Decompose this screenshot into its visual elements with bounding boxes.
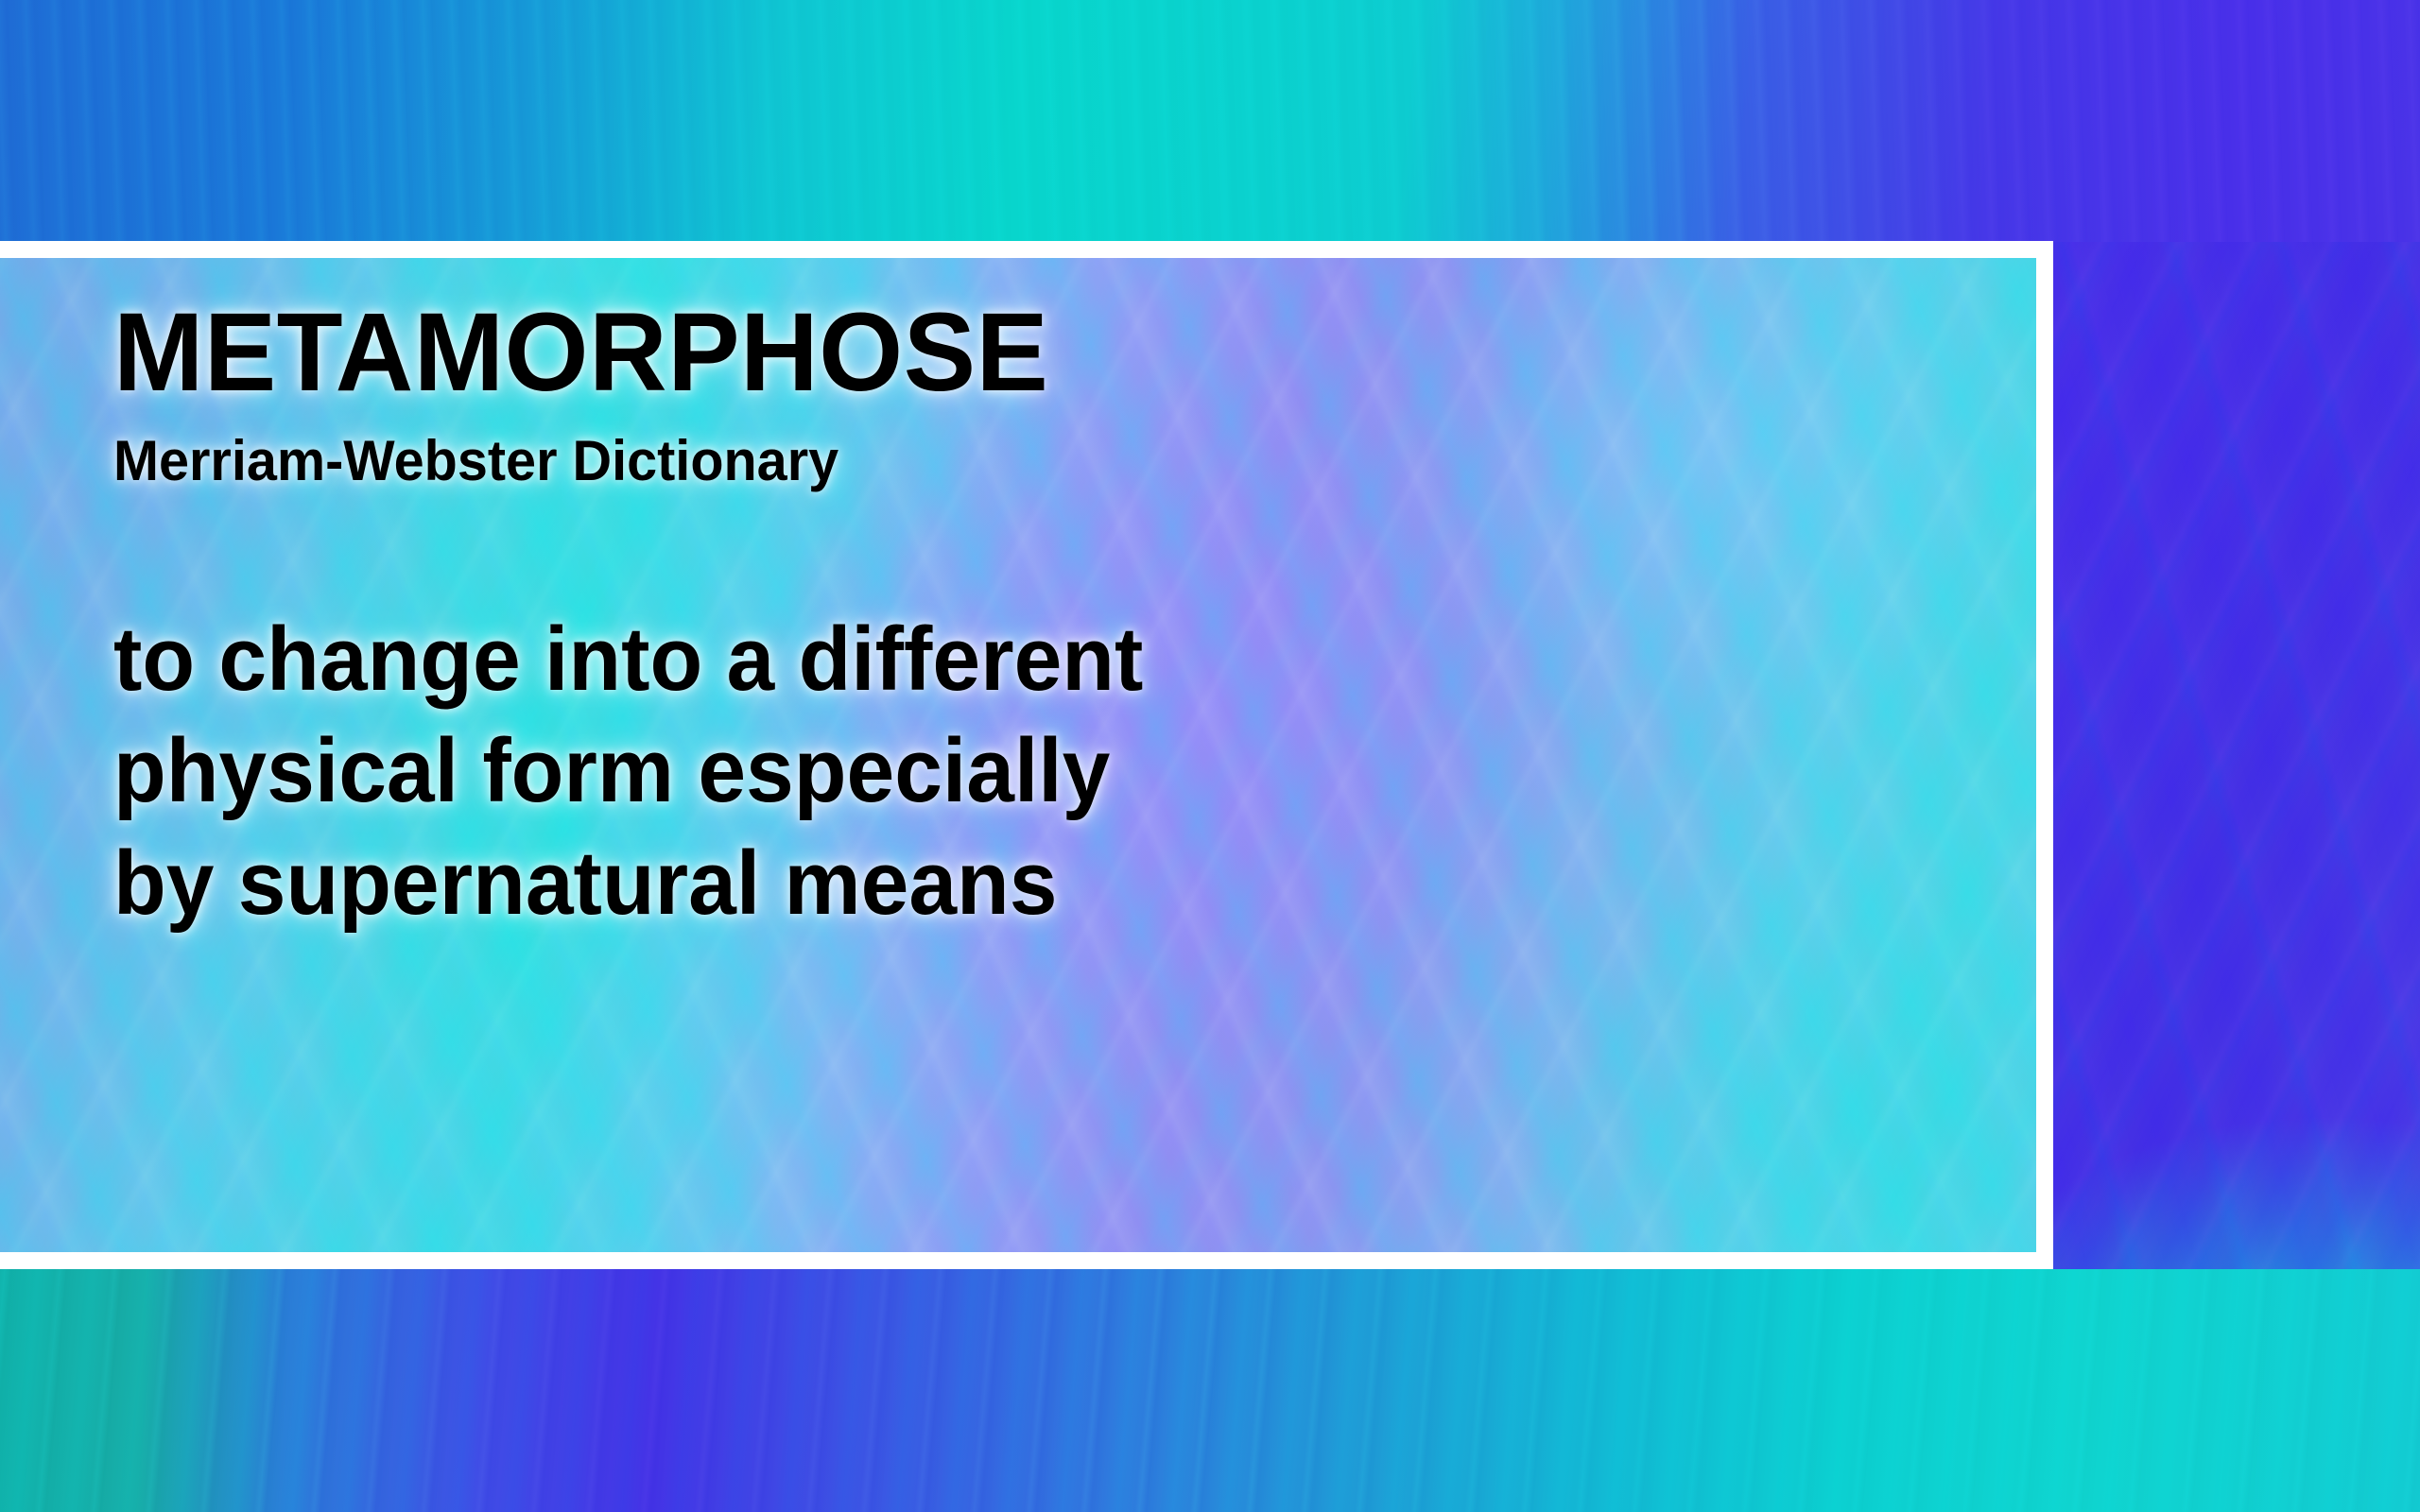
definition-line-2: physical form especially xyxy=(113,715,1886,827)
background-top-band-strokes xyxy=(0,0,2420,242)
definition-line-3: by supernatural means xyxy=(113,828,1886,939)
definition-text: to change into a different physical form… xyxy=(113,604,1886,938)
quote-card-canvas: METAMORPHOSE Merriam-Webster Dictionary … xyxy=(0,0,2420,1512)
background-bottom-band-strokes xyxy=(0,1269,2420,1512)
term-heading: METAMORPHOSE xyxy=(113,296,1924,409)
dictionary-source-label: Merriam-Webster Dictionary xyxy=(113,430,1905,492)
definition-line-1: to change into a different xyxy=(113,604,1886,715)
definition-card-frame: METAMORPHOSE Merriam-Webster Dictionary … xyxy=(0,241,2053,1269)
card-text-block: METAMORPHOSE Merriam-Webster Dictionary … xyxy=(113,296,1979,939)
definition-card-inner: METAMORPHOSE Merriam-Webster Dictionary … xyxy=(0,258,2036,1252)
